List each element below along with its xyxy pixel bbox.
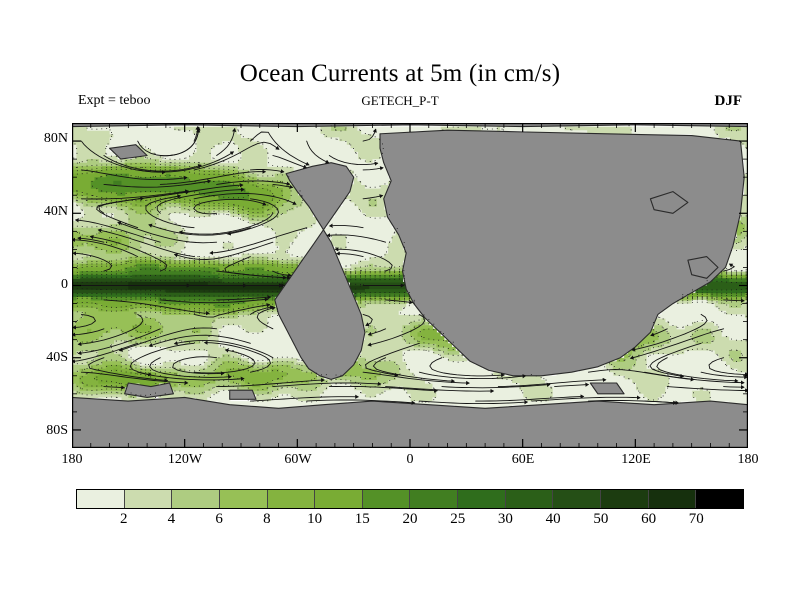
colorbar-tick-50: 50	[578, 511, 624, 528]
ytick-label-40n: 40N	[22, 204, 68, 220]
colorbar-swatch-13	[696, 490, 743, 508]
colorbar-swatch-7	[410, 490, 458, 508]
colorbar-tick-30: 30	[482, 511, 528, 528]
land-polygon-8	[230, 390, 256, 399]
colorbar-tick-2: 2	[101, 511, 147, 528]
colorbar-swatch-9	[506, 490, 554, 508]
colorbar-tick-10: 10	[292, 511, 338, 528]
page-title: Ocean Currents at 5m (in cm/s)	[0, 60, 800, 88]
xtick-label-120e: 120E	[606, 452, 666, 468]
colorbar-swatch-1	[125, 490, 173, 508]
xtick-label-0: 0	[380, 452, 440, 468]
map-plot-area	[72, 123, 748, 448]
colorbar[interactable]	[76, 489, 744, 509]
colorbar-swatch-5	[315, 490, 363, 508]
colorbar-tick-40: 40	[530, 511, 576, 528]
colorbar-swatch-2	[172, 490, 220, 508]
colorbar-swatch-6	[363, 490, 411, 508]
colorbar-tick-15: 15	[339, 511, 385, 528]
colorbar-tick-60: 60	[626, 511, 672, 528]
colorbar-swatch-11	[601, 490, 649, 508]
xtick-label-180w: 180	[42, 452, 102, 468]
xtick-label-120w: 120W	[155, 452, 215, 468]
colorbar-tick-20: 20	[387, 511, 433, 528]
ytick-label-40s: 40S	[22, 350, 68, 366]
colorbar-swatch-3	[220, 490, 268, 508]
ocean-current-map	[72, 123, 748, 448]
colorbar-tick-25: 25	[435, 511, 481, 528]
xtick-label-180e: 180	[718, 452, 778, 468]
colorbar-tick-4: 4	[148, 511, 194, 528]
ytick-label-0: 0	[22, 277, 68, 293]
colorbar-swatch-10	[553, 490, 601, 508]
xtick-label-60e: 60E	[493, 452, 553, 468]
colorbar-swatch-0	[77, 490, 125, 508]
colorbar-swatch-12	[649, 490, 697, 508]
colorbar-tick-8: 8	[244, 511, 290, 528]
xtick-label-60w: 60W	[268, 452, 328, 468]
colorbar-swatch-8	[458, 490, 506, 508]
season-label: DJF	[715, 93, 743, 110]
figure-canvas: Ocean Currents at 5m (in cm/s) GETECH_P-…	[0, 0, 800, 600]
experiment-label: Expt = teboo	[78, 93, 150, 109]
colorbar-tick-6: 6	[196, 511, 242, 528]
ytick-label-80n: 80N	[22, 131, 68, 147]
colorbar-swatch-4	[268, 490, 316, 508]
ytick-label-80s: 80S	[22, 423, 68, 439]
colorbar-tick-70: 70	[673, 511, 719, 528]
